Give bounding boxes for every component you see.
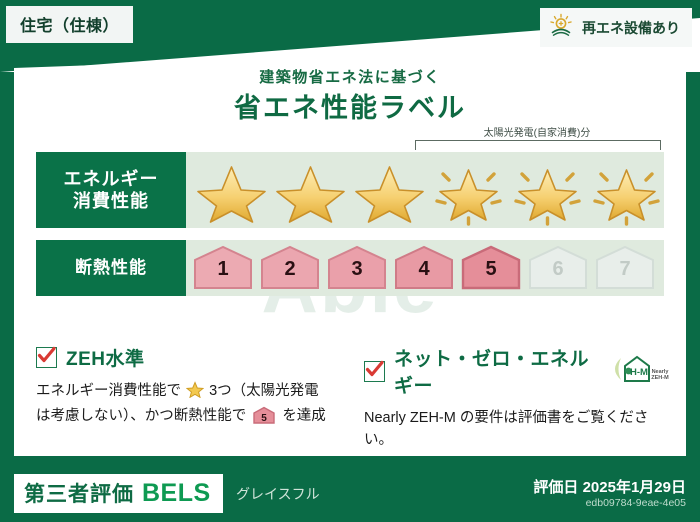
criteria-section: ZEH水準 エネルギー消費性能で 3つ（太陽光発電 は考慮しない）、かつ断熱性能…	[14, 344, 686, 452]
star-icon-solar	[587, 160, 666, 226]
insulation-performance-caption: 断熱性能	[36, 240, 186, 296]
insulation-level-5: 5	[460, 244, 522, 290]
energy-caption-line1: エネルギー	[64, 168, 159, 191]
bels-energy-label: 住宅（住棟） 再エネ設備あり Able 建築物省エネ法に基づく 省エネ	[0, 0, 700, 522]
zeh-body-part3: を達成	[282, 408, 326, 424]
svg-text:5: 5	[262, 413, 268, 424]
building-type-chip: 住宅（住棟）	[6, 6, 133, 43]
insulation-level-number: 2	[284, 258, 295, 290]
insulation-level-number: 4	[418, 258, 429, 290]
insulation-level-6: 6	[527, 244, 589, 290]
insulation-levels-area: 1 2 3	[186, 240, 664, 296]
insulation-level-4: 4	[393, 244, 455, 290]
star-icon	[192, 160, 271, 226]
inline-house-badge: 5	[248, 412, 280, 428]
zeh-standard-block: ZEH水準 エネルギー消費性能で 3つ（太陽光発電 は考慮しない）、かつ断熱性能…	[14, 344, 350, 452]
zeh-standard-title: ZEH水準	[66, 344, 145, 371]
insulation-level-number: 7	[619, 258, 630, 290]
net-zero-header: ネット・ゼロ・エネルギー H-M Nearly ZEH-M	[364, 344, 670, 398]
insulation-level-number: 1	[217, 258, 228, 290]
star-rating-group	[192, 160, 660, 226]
insulation-performance-row: 断熱性能 1 2	[36, 240, 664, 296]
zeh-standard-body: エネルギー消費性能で 3つ（太陽光発電 は考慮しない）、かつ断熱性能で 5 を達…	[36, 380, 334, 432]
net-zero-checkbox	[364, 361, 385, 382]
zeh-checkbox	[36, 347, 57, 368]
net-zero-body: Nearly ZEH-M の要件は評価書をご覧ください。	[364, 407, 670, 452]
star-icon	[350, 160, 429, 226]
svg-text:ZEH-M: ZEH-M	[651, 375, 669, 381]
energy-caption-line2: 消費性能	[73, 190, 149, 213]
insulation-level-number: 5	[485, 258, 496, 290]
insulation-level-7: 7	[594, 244, 656, 290]
bels-logo-text: BELS	[142, 479, 211, 508]
insulation-level-3: 3	[326, 244, 388, 290]
renewable-badge-label: 再エネ設備あり	[582, 18, 680, 38]
zeh-body-part2: は考慮しない）、かつ断熱性能で	[36, 408, 246, 424]
insulation-caption-label: 断熱性能	[75, 257, 147, 278]
energy-performance-row: エネルギー 消費性能 太陽光発電(自家消費)分	[36, 152, 664, 228]
net-zero-energy-block: ネット・ゼロ・エネルギー H-M Nearly ZEH-M Nearly ZEH…	[350, 344, 686, 452]
label-footer: 第三者評価 BELS グレイスフル 評価日 2025年1月29日 edb0978…	[0, 466, 700, 522]
zeh-body-part1: エネルギー消費性能で	[36, 383, 181, 399]
energy-performance-caption: エネルギー 消費性能	[36, 152, 186, 228]
nearly-zeh-m-logo-icon: H-M Nearly ZEH-M	[608, 354, 670, 389]
label-title: 省エネ性能ラベル	[14, 86, 686, 125]
zeh-standard-header: ZEH水準	[36, 344, 334, 371]
star-icon-solar	[508, 160, 587, 226]
svg-text:H-M: H-M	[630, 367, 648, 378]
zeh-body-star-count: 3つ（太陽光発電	[209, 383, 319, 399]
solar-portion-bracket	[415, 140, 661, 150]
solar-portion-note: 太陽光発電(自家消費)分	[412, 124, 662, 139]
star-icon-solar	[429, 160, 508, 226]
star-icon	[271, 160, 350, 226]
insulation-level-2: 2	[259, 244, 321, 290]
solar-sun-icon	[548, 13, 574, 42]
renewable-energy-badge: 再エネ設備あり	[540, 8, 692, 47]
insulation-level-number: 3	[351, 258, 362, 290]
insulation-level-1: 1	[192, 244, 254, 290]
insulation-level-group: 1 2 3	[192, 244, 656, 290]
insulation-level-number: 6	[552, 258, 563, 290]
net-zero-title: ネット・ゼロ・エネルギー	[394, 344, 593, 398]
owner-name: グレイスフル	[236, 484, 320, 504]
label-subtitle: 建築物省エネ法に基づく	[14, 66, 686, 87]
third-party-label: 第三者評価	[24, 478, 134, 508]
evaluation-date: 評価日 2025年1月29日	[533, 476, 686, 497]
third-party-evaluation-badge: 第三者評価 BELS	[14, 474, 223, 513]
evaluation-id: edb09784-9eae-4e05	[586, 497, 686, 509]
energy-stars-area: 太陽光発電(自家消費)分	[186, 152, 664, 228]
label-body-panel: Able 建築物省エネ法に基づく 省エネ性能ラベル エネルギー 消費性能 太陽光…	[14, 44, 686, 456]
inline-star-icon	[182, 386, 208, 402]
